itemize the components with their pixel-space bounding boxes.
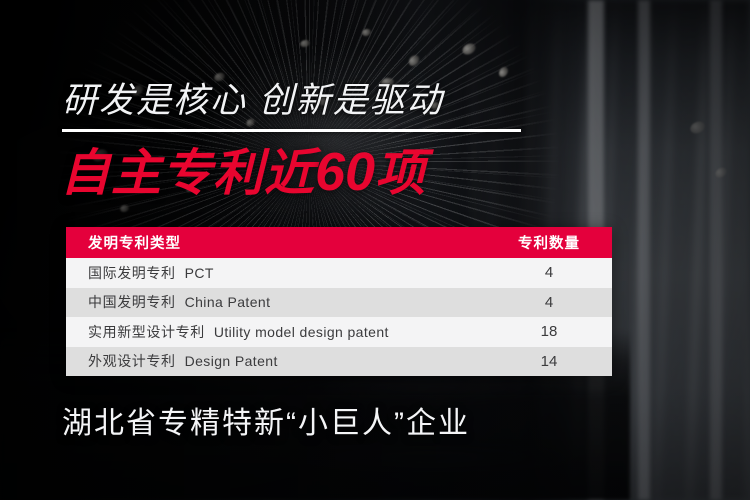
table-header-type: 发明专利类型 <box>66 232 486 253</box>
table-cell-count: 4 <box>486 294 612 311</box>
table-row: 中国发明专利China Patent 4 <box>66 288 612 318</box>
patent-banner: 研发是核心 创新是驱动 自主专利近60项 发明专利类型 专利数量 国际发明专利P… <box>0 0 750 500</box>
table-cell-count: 14 <box>486 353 612 370</box>
table-header-count: 专利数量 <box>486 232 612 253</box>
table-cell-type: 国际发明专利PCT <box>66 263 486 283</box>
table-cell-count: 18 <box>486 323 612 340</box>
patent-type-en: Design Patent <box>185 353 278 369</box>
patent-table: 发明专利类型 专利数量 国际发明专利PCT 4 中国发明专利China Pate… <box>66 227 612 376</box>
headline-secondary-prefix: 自主专利近 <box>60 145 315 201</box>
patent-type-en: Utility model design patent <box>214 324 389 340</box>
patent-type-zh: 外观设计专利 <box>88 353 176 369</box>
banner-content: 研发是核心 创新是驱动 自主专利近60项 发明专利类型 专利数量 国际发明专利P… <box>0 0 750 500</box>
patent-type-zh: 实用新型设计专利 <box>88 324 205 340</box>
table-cell-type: 实用新型设计专利Utility model design patent <box>66 322 486 342</box>
table-cell-type: 中国发明专利China Patent <box>66 292 486 312</box>
headline-secondary-number: 60 <box>315 142 375 202</box>
table-row: 国际发明专利PCT 4 <box>66 258 612 288</box>
headline-secondary-suffix: 项 <box>375 145 426 201</box>
table-cell-type: 外观设计专利Design Patent <box>66 351 486 371</box>
patent-type-en: China Patent <box>185 294 271 310</box>
bottom-caption: 湖北省专精特新“小巨人”企业 <box>62 404 470 444</box>
table-cell-count: 4 <box>486 264 612 281</box>
table-row: 实用新型设计专利Utility model design patent 18 <box>66 317 612 347</box>
headline-divider-rule <box>62 129 521 132</box>
table-row: 外观设计专利Design Patent 14 <box>66 347 612 377</box>
patent-type-zh: 中国发明专利 <box>88 294 176 310</box>
headline-secondary: 自主专利近60项 <box>60 143 426 202</box>
patent-type-en: PCT <box>185 265 214 281</box>
patent-type-zh: 国际发明专利 <box>88 265 176 281</box>
table-header-row: 发明专利类型 专利数量 <box>66 227 612 258</box>
headline-primary: 研发是核心 创新是驱动 <box>62 80 444 122</box>
